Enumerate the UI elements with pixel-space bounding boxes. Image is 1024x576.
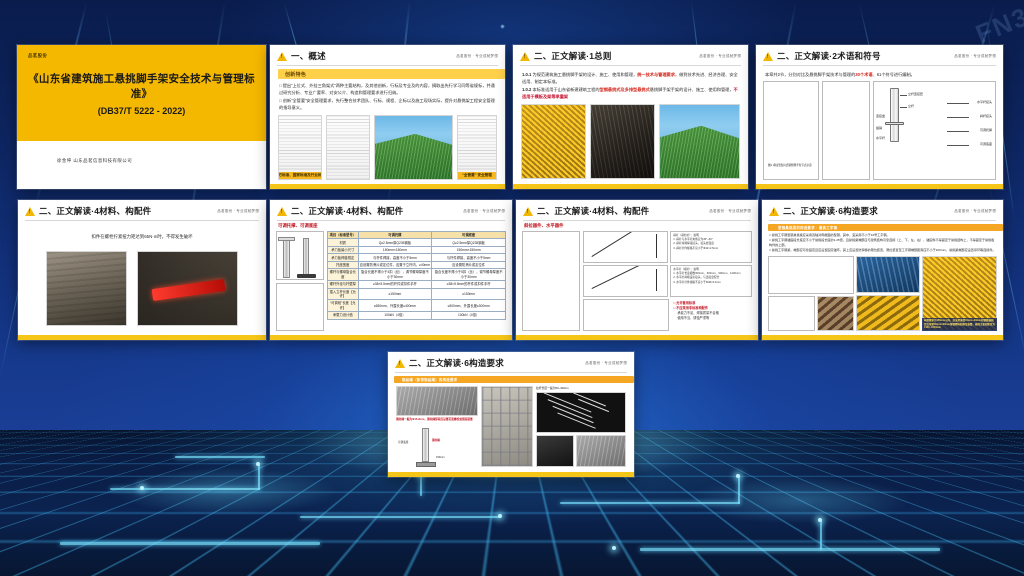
diagram-horizontal-brace (583, 265, 668, 297)
image-contents-list: “全管要” 安全管理 (457, 115, 497, 180)
note-wire-rope-right: 拉杆长度一般为50~300cm (536, 386, 626, 390)
page-title: 《山东省建筑施工悬挑脚手架安全技术与管理标准》 (17, 71, 266, 101)
legend-allowed: 允许套用标准 (676, 301, 695, 305)
slide-title-materials-1: 二、正文解读·4材料、构配件 (39, 205, 151, 217)
materials-table: 项目（标准型号） 可调托撑 可调底座 材质Q≥2.5mm厚Q235钢板Q≥2.5… (327, 231, 506, 320)
slide-card-materials-photos[interactable]: 二、正文解读·4材料、构配件 品茗股份 · 专业成就梦想 扣件在螺栓拧紧扭力矩达… (18, 200, 266, 340)
diagram-base-jack: 可调底座 钢丝绳 150mm (396, 424, 478, 467)
slide-title-overview: 一、概述 (291, 50, 326, 62)
cell-value: ≥38×5.5mm的杆件或扣件手杆 (432, 281, 506, 288)
section-tag-ibeam: 型钢悬挑梁的构造要求 · 悬挑工字钢 (768, 224, 1003, 231)
cell-label: 材质 (328, 239, 359, 246)
table-row: 承力板焊缝规定与杆件焊接，高度不小于5mm与杆件焊接，高度不小于5mm (328, 254, 506, 261)
brand-logo-small: 品茗股份 · 专业成就梦想 (585, 361, 627, 366)
note-horizontal-brace: 水平杆（横杆）：说明 1. 水平杆长度模数300mm、600mm、900mm、1… (670, 265, 752, 297)
brace-note-3: 3. 斜杆杆件规格不应小于Φ42×2.5mm (673, 247, 749, 251)
cell-value: ≥38×5.5mm的杆件或扣件手杆 (358, 281, 432, 288)
table-header-row: 项目（标准型号） 可调托撑 可调底座 (328, 232, 506, 239)
slide-card-construction-2[interactable]: 二、正文解读·6构造要求 品茗股份 · 专业成就梦想 钢丝绳（卸荷钢丝绳）的构造… (388, 352, 634, 477)
terms-intro-post: 、61个符号进行编制。 (873, 72, 915, 77)
label-dimension-150: 150mm (436, 456, 445, 459)
warning-triangle-icon (395, 359, 405, 368)
image-dark-site-photo (590, 104, 655, 179)
presenter-line: 徐金坤 山东品茗信息科技有限公司 (57, 158, 132, 164)
image-i-beam-elevation-cad (768, 256, 854, 293)
image-node-connector-photo (576, 435, 626, 467)
diagram-scaffold-frame-3d (822, 81, 870, 180)
slide-title-construction-1: 二、正文解读·6构造要求 (783, 205, 878, 217)
cell-value: ≤500mm、外露长度≤300mm (432, 300, 506, 312)
image-wire-rope-photo (396, 386, 478, 416)
slide-card-title[interactable]: 品茗股份 《山东省建筑施工悬挑脚手架安全技术与管理标准》 (DB37/T 522… (17, 45, 266, 189)
callout-diagonal-joint: 斜杆接头 (980, 114, 992, 118)
section-tag-braces: 斜拉器件、水平器件 (516, 221, 758, 230)
label-rope: 钢丝绳 (432, 438, 440, 442)
clause-num-101: 1.0.1 (522, 72, 531, 77)
clause-num-102: 1.0.2 (522, 87, 531, 92)
brand-logo-small: 品茗股份 · 专业成就梦想 (954, 209, 996, 214)
callout-connector-disc: 连接盘 (876, 114, 885, 118)
table-row: 材质Q≥2.5mm厚Q235钢板Q≥2.5mm厚Q235钢板 (328, 239, 506, 246)
cell-value: Q≥2.5mm厚Q235钢板 (358, 239, 432, 246)
image-stairs-photo (817, 296, 854, 331)
cell-value: 旋合长度不得小于5扣（丝），调节螺母厚度不小于30mm (432, 269, 506, 281)
slide-card-materials-braces[interactable]: 二、正文解读·4材料、构配件 品茗股份 · 专业成就梦想 斜拉器件、水平器件 (516, 200, 758, 340)
th-item: 项目（标准型号） (328, 232, 359, 239)
image-wire-rope-samples-photo (536, 392, 626, 433)
note-wire-rope-left: 钢丝绳一般为Φ15.2mm，钢丝绳卸荷应设置花篮螺栓或紧固装置 (396, 418, 478, 422)
warning-triangle-icon (763, 52, 773, 61)
cell-label: 承载力设计值 (328, 312, 359, 319)
slide-card-construction-1[interactable]: 二、正文解读·6构造要求 品茗股份 · 专业成就梦想 型钢悬挑梁的构造要求 · … (762, 200, 1003, 340)
caption-standards-2: 《建工厂、企业标准、省、市》 (375, 172, 452, 179)
slide-footer-bar (762, 335, 1003, 340)
header-divider (277, 65, 498, 66)
general-rules-body: 1.0.1 为规范建筑施工悬挑脚手架的设计、施工、使用和管理，统一技术与管理要求… (513, 66, 748, 100)
image-wall-scaffold-photo (481, 386, 533, 467)
header-divider (395, 372, 627, 373)
table-row: “可调段”长度【允许】≤650mm、外露长度≤400mm≤500mm、外露长度≤… (328, 300, 506, 312)
slide-card-terms-symbols[interactable]: 二、正文解读·2术语和符号 品茗股份 · 专业成就梦想 本章共2节，分别对比及悬… (756, 45, 1003, 189)
legend-disallowed: 不应采用非标准构配件 (676, 306, 708, 310)
note-diagonal-brace: 斜杆（斜拉杆）：说明 1. 斜杆与水平杆夹角宜为45°~60° 2. 斜杆两端焊… (670, 231, 752, 263)
terms-intro-pre: 本章共2节，分别对比及悬挑脚手架技术与管理的 (765, 72, 855, 77)
th-jack-top: 可调托撑 (358, 232, 432, 239)
annotation-box-ibeam: 构造要求为150mm以内，应采用直径16mm~20mm的钢筋锚固定位或者30mm… (922, 318, 997, 331)
construction-clause-2: 悬挑工字钢锚固段长度应不小于悬挑段长度的1.25倍，且悬挑梁端部应与建筑结构可靠… (769, 238, 996, 248)
warning-triangle-icon (523, 207, 533, 216)
cell-label: 托座宽度 (328, 261, 359, 268)
diagram-connector-exploded: 立杆连接套 立杆 连接盘 插销 水平杆 水平杆接头 斜杆接头 可调托撑 可调底座 (873, 81, 996, 180)
standard-code: (DB37/T 5222 - 2022) (17, 106, 266, 116)
overview-para-2: 创新“全管要”安全管理要求，先行整合技术团队、行标、规程、企标以及施工现场实际，… (279, 97, 496, 112)
diagram-caption-node: 图1 承插型盘扣式钢管脚手架节点示意 (768, 163, 812, 167)
watermark-fn3: FN3 (971, 1, 1024, 50)
cell-label: 承力板最小尺寸 (328, 246, 359, 253)
warning-triangle-icon (277, 207, 287, 216)
callout-pole: 立杆 (908, 104, 914, 108)
slide-card-overview[interactable]: 一、概述 品茗股份 · 专业成就梦想 创新特色 提出“上位式、外挂三角架式”两种… (270, 45, 505, 189)
cell-value: Q≥2.5mm厚Q235钢板 (432, 239, 506, 246)
terms-intro-hl: 30个术语 (855, 72, 872, 77)
image-green-net-corner-photo (659, 104, 740, 179)
image-steel-beam-photo (856, 256, 920, 292)
warning-triangle-icon (277, 52, 287, 61)
caption-safety-mgmt: “全管要” 安全管理 (458, 172, 496, 179)
image-standard-doc-left: 地方标准、国家标准及行业标准 (278, 115, 322, 180)
cell-value: 应设置防滑片或定位件 (432, 261, 506, 268)
section-tag-wire-rope: 钢丝绳（卸荷钢丝绳）的构造要求 (394, 376, 634, 383)
table-row: 螺杆外径与杆壁厚≥38×5.5mm的杆件或扣件手杆≥38×5.5mm的杆件或扣件… (328, 281, 506, 288)
diagram-brace-frame-3d (522, 231, 580, 331)
cell-value: ≥150mm (358, 288, 432, 300)
image-cantilever-bracket-cad (768, 296, 815, 331)
horiz-note-3: 3. 水平杆杆件规格不应小于Φ48×3.0mm (673, 281, 749, 285)
overview-para-1: 提出“上位式、外挂三角架式”两种主要结构，及其他创新，行标及专业及的内容，摘取出… (279, 82, 496, 97)
cell-value: ≥150mm (432, 288, 506, 300)
header-divider (769, 220, 996, 221)
slide-footer-bar (388, 472, 634, 477)
slide-footer-bar (756, 184, 1003, 189)
cell-value: 应设置防滑片或定位件，应置于立杆内，≥40mm (358, 261, 432, 268)
slide-title-materials-2: 二、正文解读·4材料、构配件 (291, 205, 403, 217)
warning-triangle-icon (25, 207, 35, 216)
slide-footer-bar (270, 184, 505, 189)
slide-title-general-rules: 二、正文解读·1总则 (534, 50, 612, 62)
table-row: 承载力设计值100kN（4倍）100kN（4倍） (328, 312, 506, 319)
callout-adjustable-jack: 可调托撑 (980, 128, 992, 132)
section-tag-jacks: 可调托撑、可调底座 (270, 221, 512, 230)
brand-logo-small: 品茗股份 · 专业成就梦想 (954, 54, 996, 59)
image-site-inspection-photo (46, 251, 127, 326)
clause-hl-101: 统一技术与管理要求 (637, 72, 675, 77)
cell-label: 承力板焊缝规定 (328, 254, 359, 261)
image-base-jack-photo (536, 435, 575, 467)
image-fastener-torque-photo (137, 251, 238, 326)
brand-logo-small: 品茗股份 · 专业成就梦想 (217, 209, 259, 214)
materials-note: 扣件在螺栓拧紧扭力矩达到65N·m时，不得发生破坏 (18, 221, 266, 241)
diagram-scaffold-node: 图1 承插型盘扣式钢管脚手架节点示意 (763, 81, 819, 180)
callout-horizontal-bar: 水平杆 (876, 136, 885, 140)
slide-card-general-rules[interactable]: 二、正文解读·1总则 品茗股份 · 专业成就梦想 1.0.1 为规范建筑施工悬挑… (513, 45, 748, 189)
th-jack-base: 可调底座 (432, 232, 506, 239)
warning-triangle-icon (520, 52, 530, 61)
brand-logo-small: 品茗股份 · 专业成就梦想 (699, 54, 741, 59)
slide-footer-bar (516, 335, 758, 340)
cell-value: 100kN（4倍） (358, 312, 432, 319)
image-yellow-rig-photo (521, 104, 586, 179)
warning-triangle-icon (769, 207, 779, 216)
clause-hl-102: 型钢悬挑式及多排型悬挑式 (600, 87, 650, 92)
label-base-jack: 可调底座 (398, 440, 408, 444)
cell-value: 150mm×150mm (358, 246, 432, 253)
callout-adjustable-base: 可调底座 (980, 142, 992, 146)
image-standard-doc-right (326, 115, 370, 180)
diagram-diagonal-brace (583, 231, 668, 263)
cell-value: 旋合长度不得小于4扣（丝），调节螺母厚度不小于30mm (358, 269, 432, 281)
cell-value: 150mm×150mm (432, 246, 506, 253)
terms-intro: 本章共2节，分别对比及悬挑脚手架技术与管理的30个术语、61个符号进行编制。 (756, 66, 1003, 78)
cell-value: 与杆件焊接，高度不小于5mm (358, 254, 432, 261)
slide-title-construction-2: 二、正文解读·6构造要求 (409, 357, 504, 369)
brace-legend: 允许套用标准 不应采用非标准构配件 承载力不足、焊接质量不合格 使用不当、锈蚀严… (671, 299, 752, 331)
presentation-stage: FN3 UNIT UNIT UNIT (0, 0, 1024, 576)
slide-title-terms: 二、正文解读·2术语和符号 (777, 50, 881, 62)
clause-tail-102: 悬挑脚手架手架的设计、施工、使用和管理， (650, 87, 734, 92)
cell-value: 与杆件焊接，高度不小于5mm (432, 254, 506, 261)
slide-footer-bar (18, 335, 266, 340)
clause-text-102: 本标准适用于山东省新建建筑工程的 (533, 87, 600, 92)
cell-label: 插入立杆长度【允许】 (328, 288, 359, 300)
brand-logo-small: 品茗股份 · 专业成就梦想 (709, 209, 751, 214)
brand-logo-small: 品茗股份 · 专业成就梦想 (463, 209, 505, 214)
callout-horiz-joint: 水平杆接头 (977, 100, 992, 104)
materials-table-wrap: 项目（标准型号） 可调托撑 可调底座 材质Q≥2.5mm厚Q235钢板Q≥2.5… (327, 231, 506, 331)
caption-standards: 地方标准、国家标准及行业标准 (279, 172, 321, 179)
slide-footer-bar (270, 335, 512, 340)
cell-label: “可调段”长度【允许】 (328, 300, 359, 312)
legend-sub-2: 使用不当、锈蚀严重等 (673, 316, 750, 321)
overview-body: 提出“上位式、外挂三角架式”两种主要结构，及其他创新，行标及专业及的内容，摘取出… (270, 79, 505, 111)
table-row: 承力板最小尺寸150mm×150mm150mm×150mm (328, 246, 506, 253)
cell-label: 螺杆与螺母旋合长度 (328, 269, 359, 281)
slide-title-materials-3: 二、正文解读·4材料、构配件 (537, 205, 649, 217)
image-yellow-scaffold-stair-photo (856, 295, 920, 331)
image-green-net-building: 《建工厂、企业标准、省、市》 (374, 115, 453, 180)
callout-pin: 插销 (876, 126, 882, 130)
slide-footer-bar (513, 184, 748, 189)
cell-value: ≤650mm、外露长度≤400mm (358, 300, 432, 312)
diagram-spec-table (583, 299, 669, 331)
callout-pole-sleeve: 立杆连接套 (908, 92, 923, 96)
cell-value: 100kN（4倍） (432, 312, 506, 319)
brand-logo-title: 品茗股份 (28, 53, 47, 59)
brand-logo-small: 品茗股份 · 专业成就梦想 (456, 54, 498, 59)
diagram-jack-photos (276, 231, 324, 280)
cell-label: 螺杆外径与杆壁厚 (328, 281, 359, 288)
slide-card-materials-table[interactable]: 二、正文解读·4材料、构配件 品茗股份 · 专业成就梦想 可调托撑、可调底座 (270, 200, 512, 340)
section-tag-overview: 创新特色 (278, 69, 505, 79)
table-row: 螺杆与螺母旋合长度旋合长度不得小于4扣（丝），调节螺母厚度不小于30mm旋合长度… (328, 269, 506, 281)
table-row: 插入立杆长度【允许】≥150mm≥150mm (328, 288, 506, 300)
construction-clauses: 悬挑工字钢型钢悬挑梁应采用双轴对称截面的型钢，其中，宜采用不小于16号工字钢。 … (762, 231, 1003, 253)
clause-text-101: 为规范建筑施工悬挑脚手架的设计、施工、使用和管理， (533, 72, 638, 77)
table-row: 托座宽度应设置防滑片或定位件，应置于立杆内，≥40mm应设置防滑片或定位件 (328, 261, 506, 268)
diagram-jack-cad (276, 283, 324, 332)
